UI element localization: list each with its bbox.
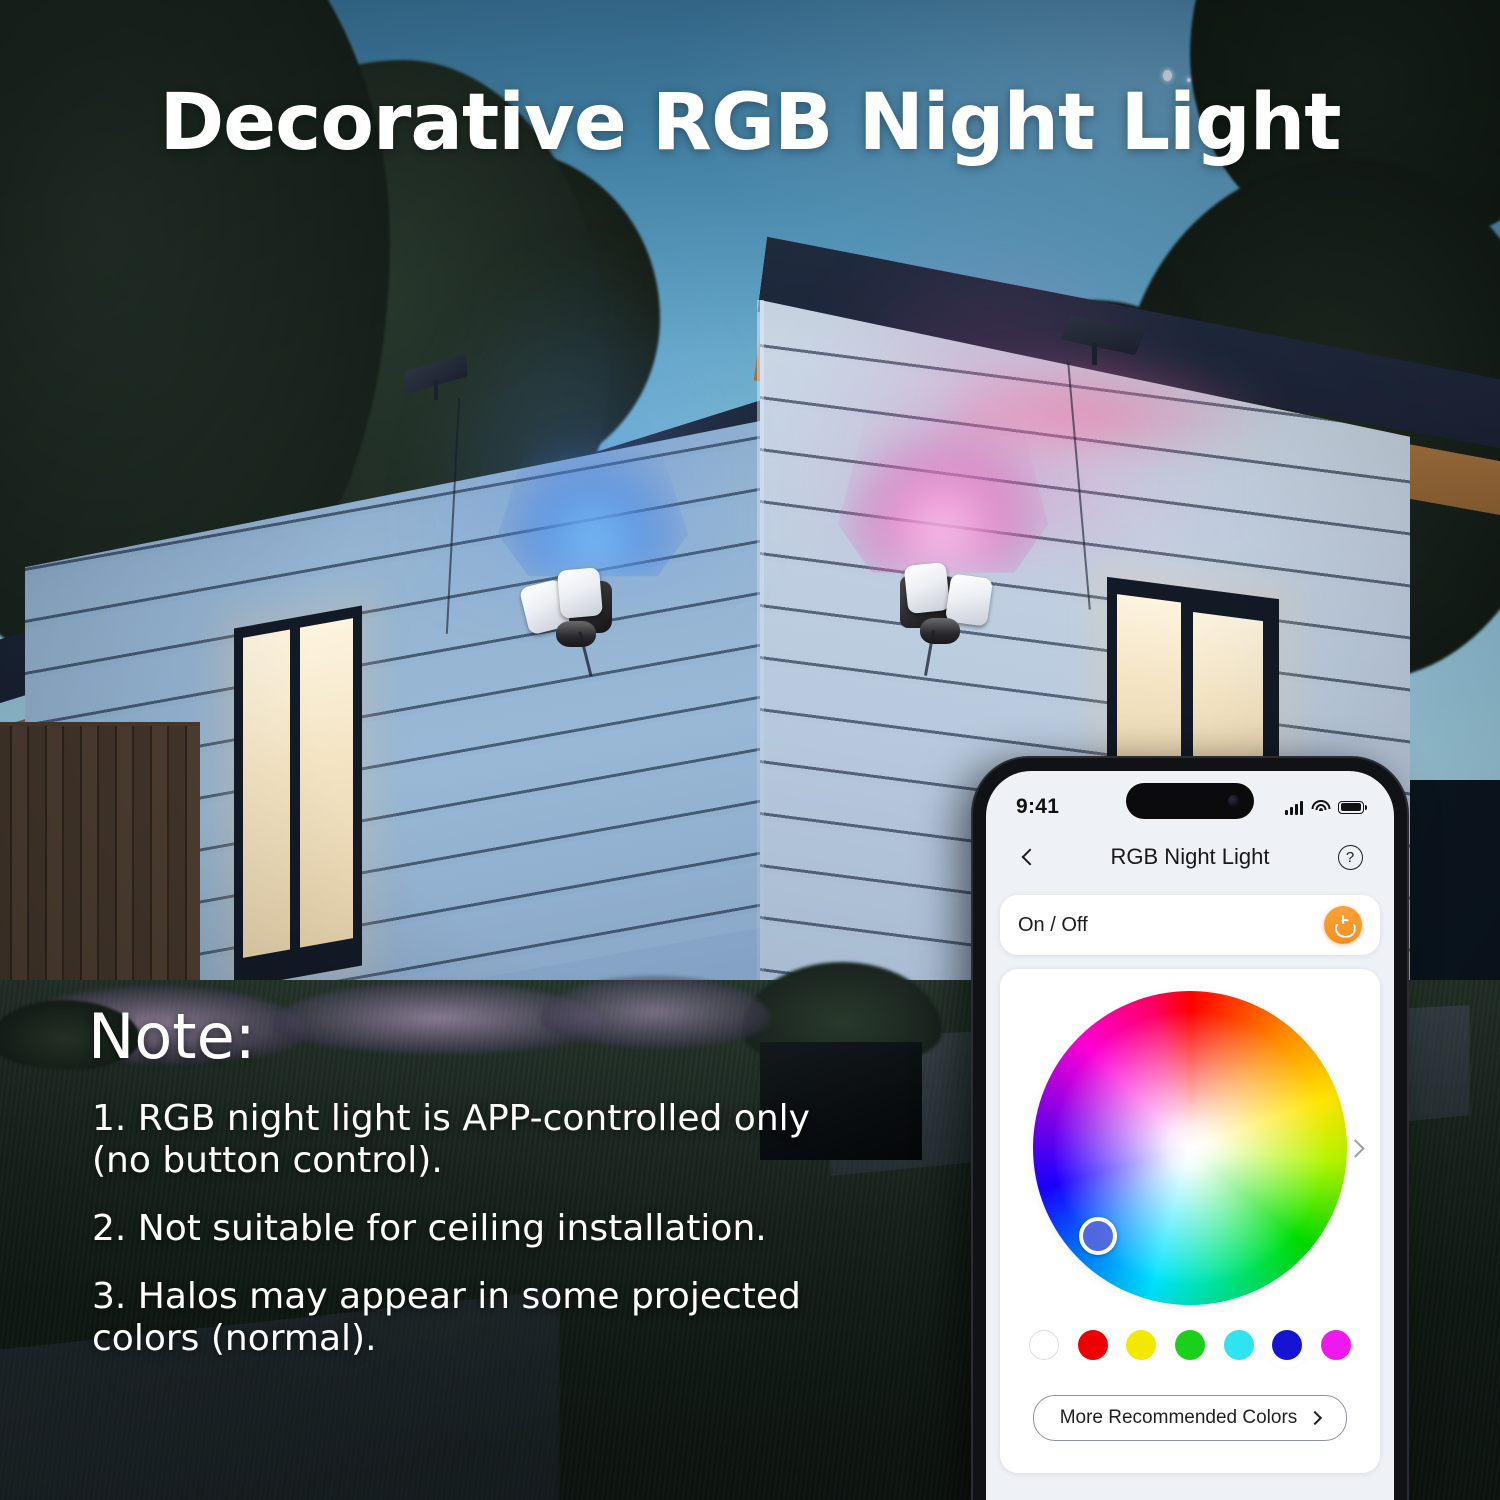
window-pane — [300, 618, 353, 948]
color-swatch-row — [1000, 1305, 1380, 1369]
status-time: 9:41 — [1016, 795, 1059, 819]
chevron-right-icon — [1308, 1411, 1322, 1425]
swatch-dot — [1224, 1330, 1254, 1360]
motion-sensor — [556, 621, 596, 647]
swatch-dot — [1175, 1330, 1205, 1360]
app-nav-bar: RGB Night Light ? — [986, 829, 1394, 885]
panel-mount-left — [434, 380, 438, 400]
dynamic-island — [1126, 783, 1254, 819]
status-indicators — [1285, 800, 1364, 815]
swatch-dot — [1078, 1330, 1108, 1360]
color-wheel[interactable] — [1033, 991, 1347, 1305]
note-heading: Note: — [88, 1000, 256, 1073]
chevron-right-icon — [1346, 1139, 1364, 1157]
swatch-dot — [1321, 1330, 1351, 1360]
note-item: 2. Not suitable for ceiling installation… — [92, 1208, 852, 1250]
window-left — [234, 605, 362, 988]
smartphone-mockup: 9:41 RGB Night Light ? On / Off — [973, 758, 1407, 1500]
swatch-magenta[interactable] — [1318, 1327, 1354, 1363]
power-toggle-button[interactable] — [1324, 906, 1362, 944]
wifi-icon — [1311, 800, 1330, 814]
on-off-card: On / Off — [1000, 895, 1380, 955]
floodlight-lamp — [904, 562, 951, 614]
swatch-red[interactable] — [1075, 1327, 1111, 1363]
chevron-left-icon — [1022, 849, 1039, 866]
color-wheel-handle[interactable] — [1079, 1217, 1117, 1255]
wall-corner-highlight — [757, 300, 764, 1060]
cellular-signal-icon — [1285, 800, 1303, 815]
power-icon — [1335, 917, 1352, 934]
swatch-green[interactable] — [1172, 1327, 1208, 1363]
window-pane — [243, 629, 290, 957]
swatch-dot — [1029, 1330, 1059, 1360]
swatch-dot — [1126, 1330, 1156, 1360]
more-recommended-colors-button[interactable]: More Recommended Colors — [1033, 1395, 1348, 1441]
page-title: Decorative RGB Night Light — [0, 78, 1500, 168]
swatch-yellow[interactable] — [1123, 1327, 1159, 1363]
back-button[interactable] — [1012, 839, 1048, 875]
next-page-button[interactable] — [1344, 1137, 1366, 1159]
help-button[interactable]: ? — [1332, 839, 1368, 875]
panel-mount-right — [1092, 343, 1097, 365]
floodlight-lamp — [557, 567, 603, 618]
note-list: 1. RGB night light is APP-controlled onl… — [92, 1098, 852, 1387]
floodlight-right — [886, 560, 996, 640]
phone-screen: 9:41 RGB Night Light ? On / Off — [986, 771, 1394, 1500]
help-circle-icon: ? — [1338, 845, 1363, 870]
note-item: 1. RGB night light is APP-controlled onl… — [92, 1098, 852, 1182]
floodlight-left — [524, 565, 634, 645]
front-camera-icon — [1228, 795, 1240, 807]
swatch-dot — [1272, 1330, 1302, 1360]
swatch-blue[interactable] — [1269, 1327, 1305, 1363]
more-colors-label: More Recommended Colors — [1060, 1407, 1298, 1429]
note-item: 3. Halos may appear in some projected co… — [92, 1276, 852, 1360]
swatch-white[interactable] — [1026, 1327, 1062, 1363]
status-bar: 9:41 — [986, 771, 1394, 829]
motion-sensor — [920, 618, 960, 644]
color-wheel-wrap — [1000, 991, 1380, 1305]
battery-icon — [1338, 801, 1364, 814]
color-picker-card: More Recommended Colors — [1000, 969, 1380, 1473]
on-off-label: On / Off — [1018, 914, 1088, 937]
more-colors-row: More Recommended Colors — [1000, 1369, 1380, 1459]
swatch-cyan[interactable] — [1221, 1327, 1257, 1363]
